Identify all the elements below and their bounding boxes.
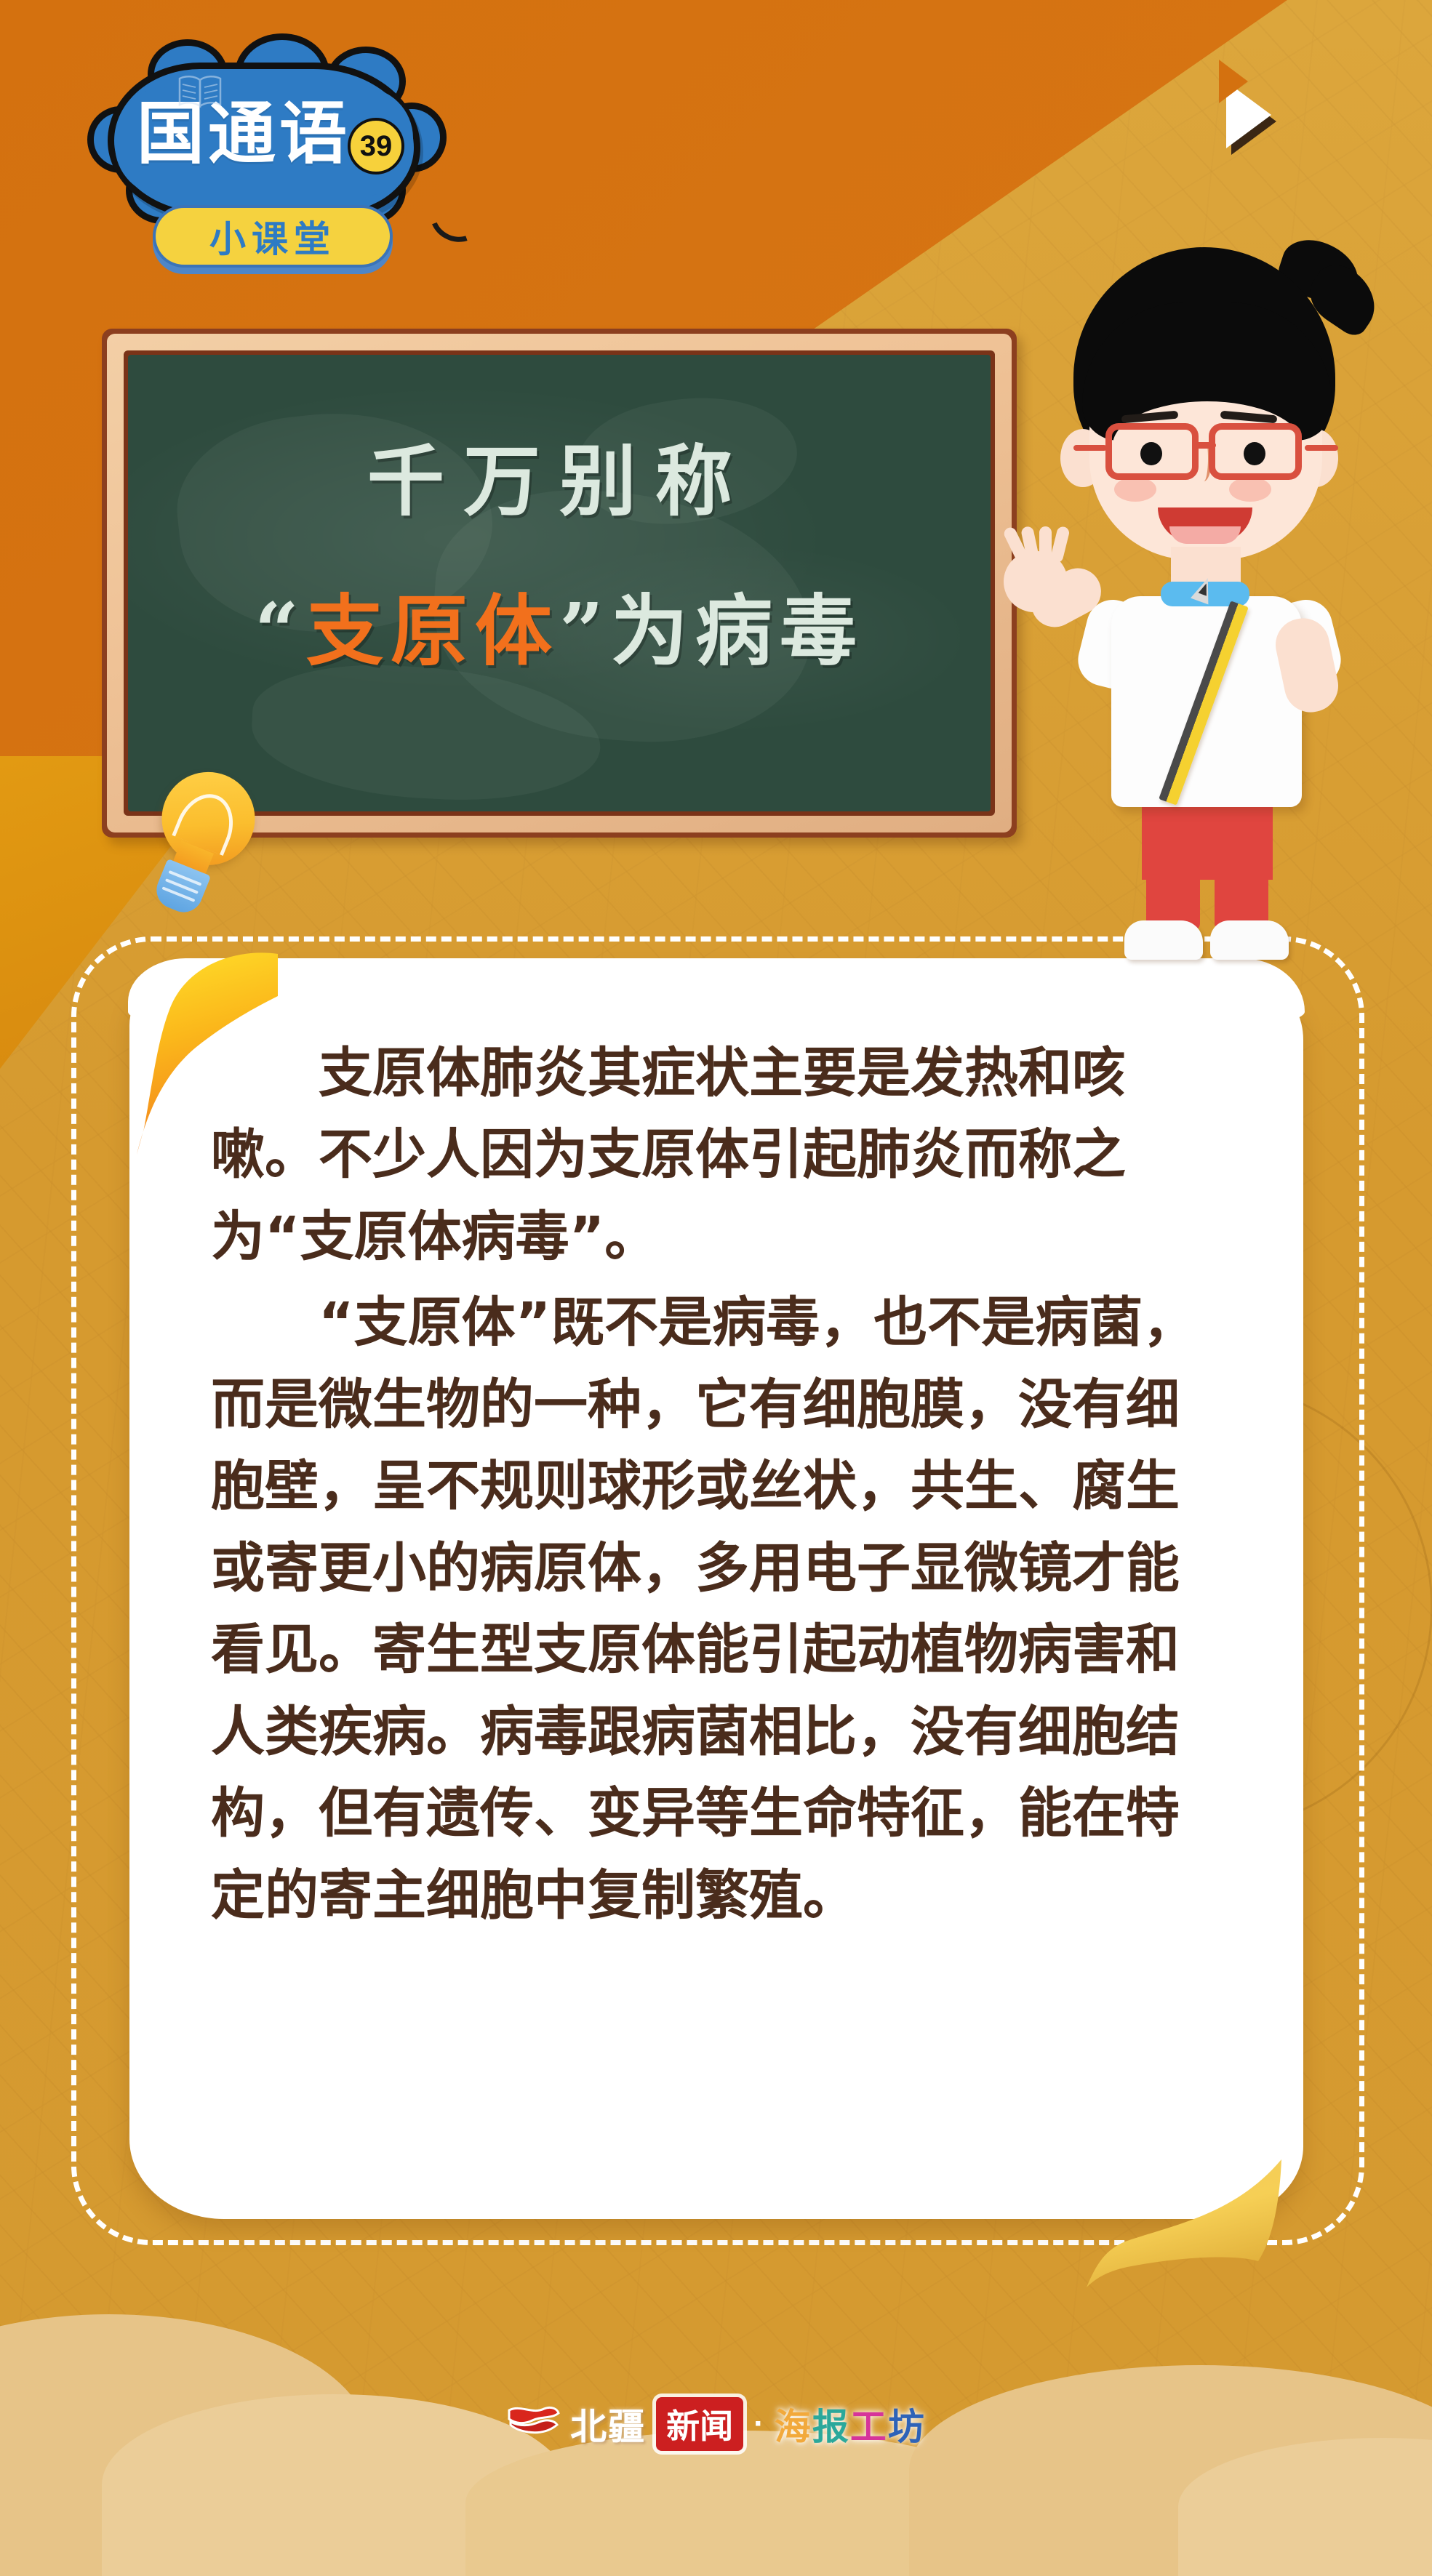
title-line-2: “支原体”为病毒: [128, 569, 991, 681]
studio-char-3: 工: [850, 2406, 888, 2448]
blackboard: 千万别称 “支原体”为病毒: [102, 329, 1017, 838]
title-quote-open: “: [255, 585, 306, 676]
studio-char-1: 海: [775, 2406, 812, 2448]
footer-brand-name: 北疆: [570, 2398, 646, 2450]
cheek-blush-right: [1229, 477, 1271, 502]
finger: [1039, 526, 1052, 563]
finger: [1049, 526, 1071, 564]
logo-subtitle: 小课堂: [209, 210, 336, 262]
shoe-right: [1210, 920, 1289, 960]
shoe-left: [1124, 920, 1203, 960]
blackboard-surface: 千万别称 “支原体”为病毒: [128, 355, 991, 811]
episode-number-badge: 39: [348, 118, 404, 174]
open-book-icon: [177, 73, 223, 109]
boy-student-illustration: [1004, 233, 1382, 960]
logo-title: 国通语: [137, 100, 351, 168]
blackboard-title: 千万别称 “支原体”为病毒: [128, 419, 991, 681]
ribbon-fold-top-left: [135, 945, 281, 1163]
leg-right: [1215, 785, 1268, 931]
glasses-arm-left: [1073, 445, 1107, 451]
title-line-1: 千万别称: [128, 419, 991, 531]
leg-left: [1146, 785, 1200, 931]
glasses-bridge: [1194, 442, 1216, 449]
studio-char-4: 坊: [888, 2406, 926, 2448]
glasses-lens-left: [1105, 423, 1199, 480]
content-card: 支原体肺炎其症状主要是发热和咳嗽。不少人因为支原体引起肺炎而称之为“支原体病毒”…: [129, 960, 1303, 2219]
footer-news-badge: 新闻: [656, 2397, 743, 2451]
title-line-2-suffix: ”为病毒: [559, 585, 864, 676]
footer-studio-name: 海报工坊: [775, 2398, 926, 2450]
title-highlight-term: 支原体: [306, 585, 559, 676]
article-paragraph: 支原体肺炎其症状主要是发热和咳嗽。不少人因为支原体引起肺炎而称之为“支原体病毒”…: [211, 1032, 1222, 1277]
article-body: 支原体肺炎其症状主要是发热和咳嗽。不少人因为支原体引起肺炎而称之为“支原体病毒”…: [211, 1032, 1222, 1936]
ribbon-fold-bottom-right: [1040, 2145, 1287, 2290]
footer-separator: ·: [753, 2406, 764, 2442]
poster-root: 国通语 39 小课堂 千万别称 “支原体”为病毒: [0, 0, 1432, 2576]
logo-subtitle-pill[interactable]: 小课堂: [153, 205, 393, 268]
footer-branding: 北疆 新闻 · 海报工坊: [0, 2395, 1432, 2453]
article-paragraph: “支原体”既不是病毒，也不是病菌，而是微生物的一种，它有细胞膜，没有细胞壁，呈不…: [211, 1282, 1222, 1936]
glasses-arm-right: [1305, 445, 1338, 451]
mouth-inner: [1169, 526, 1241, 544]
studio-char-2: 报: [812, 2406, 850, 2448]
glasses-lens-right: [1209, 423, 1302, 480]
program-logo[interactable]: 国通语 39 小课堂: [108, 63, 449, 273]
cheek-blush-left: [1114, 477, 1156, 502]
red-flag-icon: [506, 2403, 560, 2445]
play-triangle-cutout: [1219, 60, 1248, 103]
content-card-inner: 支原体肺炎其症状主要是发热和咳嗽。不少人因为支原体引起肺炎而称之为“支原体病毒”…: [211, 1032, 1222, 2154]
